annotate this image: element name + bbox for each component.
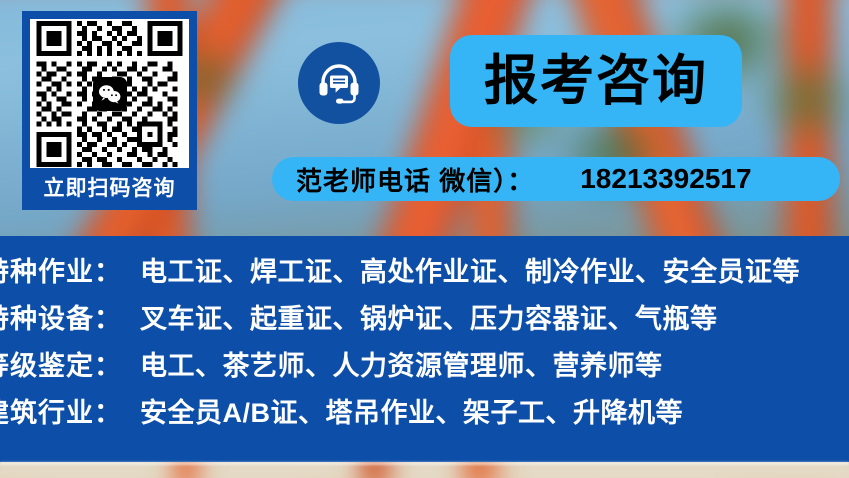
category-row-grade-appraisal: 等级鉴定： 电工、茶艺师、人力资源管理师、营养师等 [0,340,849,387]
headset-glyph [313,57,365,109]
headset-support-icon [298,42,380,124]
qr-code-image[interactable] [30,19,189,168]
panel-bottom-edge [0,462,849,465]
wechat-glyph [98,84,122,104]
contact-phone-number[interactable]: 18213392517 [580,163,751,195]
qr-card-caption: 立即扫码咨询 [44,168,176,210]
contact-label: 范老师电话 微信）： [296,161,534,198]
category-label: 等级鉴定： [0,344,122,383]
category-row-special-operations: 特种作业： 电工证、焊工证、高处作业证、制冷作业、安全员证等 [0,246,849,293]
page-title: 报考咨询 [484,54,708,108]
category-label: 特种作业： [0,250,122,289]
category-row-special-equipment: 特种设备： 叉车证、起重证、锅炉证、压力容器证、气瓶等 [0,293,849,340]
category-values: 叉车证、起重证、锅炉证、压力容器证、气瓶等 [140,297,718,336]
category-label: 特种设备： [0,297,122,336]
category-values: 安全员A/B证、塔吊作业、架子工、升降机等 [140,391,683,430]
wechat-icon [93,77,127,111]
promo-banner: 立即扫码咨询 报考咨询 范老师电话 微信）： 18213392517 特种作业：… [0,0,849,478]
category-row-construction-industry: 建筑行业： 安全员A/B证、塔吊作业、架子工、升降机等 [0,387,849,434]
category-values: 电工证、焊工证、高处作业证、制冷作业、安全员证等 [140,250,800,289]
qr-code-modules [35,21,184,167]
category-values: 电工、茶艺师、人力资源管理师、营养师等 [140,344,663,383]
consultation-title-pill: 报考咨询 [450,35,742,127]
qr-code-card[interactable]: 立即扫码咨询 [22,11,197,210]
category-label: 建筑行业： [0,391,122,430]
contact-phone-pill[interactable]: 范老师电话 微信）： 18213392517 [272,157,840,201]
certification-categories-panel: 特种作业： 电工证、焊工证、高处作业证、制冷作业、安全员证等 特种设备： 叉车证… [0,236,849,462]
